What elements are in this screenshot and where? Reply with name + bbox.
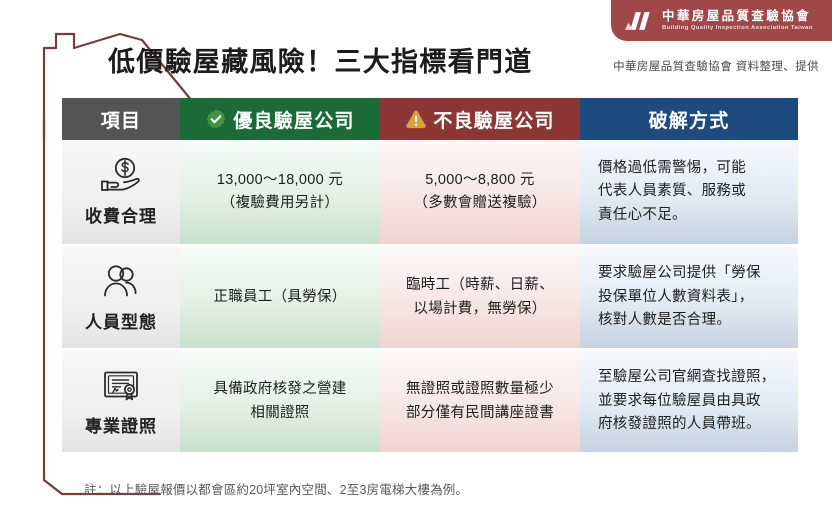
row-good-cell: 具備政府核發之營建 相關證照 <box>180 351 380 452</box>
row-item-cell: 專業證照 <box>62 351 180 452</box>
two-people-icon <box>98 263 144 301</box>
infographic-page: 中華房屋品質查驗協會 Building Quality Inspection A… <box>0 0 832 524</box>
row-bad-text: 無證照或證照數量極少 部分僅有民間講座證書 <box>406 378 554 425</box>
brand-plate: 中華房屋品質查驗協會 Building Quality Inspection A… <box>611 0 832 41</box>
row-good-cell: 13,000～18,000 元 （複驗費用另計） <box>180 140 380 244</box>
table-row: 人員型態 正職員工（具勞保） 臨時工（時薪、日薪、 以場計費，無勞保） 要求驗屋… <box>62 244 798 348</box>
row-fix-cell: 價格過低需警惕，可能 代表人員素質、服務或 責任心不足。 <box>580 140 798 244</box>
row-fix-cell: 要求驗屋公司提供「勞保 投保單位人數資料表」， 核對人數是否合理。 <box>580 247 798 348</box>
column-header-bad-label: 不良驗屋公司 <box>433 106 554 133</box>
column-header-bad: 不良驗屋公司 <box>380 98 580 140</box>
row-good-text: 正職員工（具勞保） <box>213 286 346 309</box>
row-fix-text: 至驗屋公司官網查找證照， 並要求每位驗屋員由具政 府核發證照的人員帶班。 <box>598 366 776 436</box>
warning-triangle-icon <box>405 109 427 130</box>
table-body: 收費合理 13,000～18,000 元 （複驗費用另計） 5,000～8,80… <box>62 140 798 452</box>
column-header-item: 項目 <box>62 98 180 140</box>
row-good-cell: 正職員工（具勞保） <box>180 247 380 348</box>
row-fix-text: 價格過低需警惕，可能 代表人員素質、服務或 責任心不足。 <box>598 157 746 227</box>
row-bad-text: 5,000～8,800 元 （多數會贈送複驗） <box>413 169 546 216</box>
page-title: 低價驗屋藏風險！三大指標看門道 <box>108 40 533 79</box>
row-item-cell: 收費合理 <box>62 140 180 244</box>
row-item-cell: 人員型態 <box>62 247 180 348</box>
table-row: 專業證照 具備政府核發之營建 相關證照 無證照或證照數量極少 部分僅有民間講座證… <box>62 348 798 452</box>
brand-name-en: Building Quality Inspection Association … <box>662 25 813 31</box>
brand-credit: 中華房屋品質查驗協會 資料整理、提供 <box>613 58 819 74</box>
row-bad-text: 臨時工（時薪、日薪、 以場計費，無勞保） <box>406 274 554 321</box>
row-fix-text: 要求驗屋公司提供「勞保 投保單位人數資料表」， 核對人數是否合理。 <box>598 262 761 332</box>
row-good-text: 具備政府核發之營建 相關證照 <box>213 378 346 425</box>
column-header-good-label: 優良驗屋公司 <box>233 106 354 133</box>
column-header-item-label: 項目 <box>101 106 141 133</box>
row-good-text: 13,000～18,000 元 （複驗費用另計） <box>217 169 343 216</box>
brand-name-cn: 中華房屋品質查驗協會 <box>662 10 813 23</box>
certificate-icon <box>98 367 144 405</box>
row-bad-cell: 臨時工（時薪、日薪、 以場計費，無勞保） <box>380 247 580 348</box>
comparison-table: 項目 優良驗屋公司 不良驗屋公司 破解方式 <box>62 98 798 452</box>
footnote: 註：以上驗屋報價以都會區約20坪室內空間、2至3房電梯大樓為例。 <box>84 479 468 498</box>
row-label: 收費合理 <box>85 202 157 227</box>
column-header-fix: 破解方式 <box>580 98 798 140</box>
column-header-good: 優良驗屋公司 <box>180 98 380 140</box>
row-bad-cell: 無證照或證照數量極少 部分僅有民間講座證書 <box>380 351 580 452</box>
row-label: 專業證照 <box>85 412 157 437</box>
association-logo-mark-icon <box>625 10 655 32</box>
table-header-row: 項目 優良驗屋公司 不良驗屋公司 破解方式 <box>62 98 798 140</box>
column-header-fix-label: 破解方式 <box>649 106 730 133</box>
table-row: 收費合理 13,000～18,000 元 （複驗費用另計） 5,000～8,80… <box>62 140 798 244</box>
check-badge-icon <box>205 108 227 130</box>
row-label: 人員型態 <box>85 308 157 333</box>
row-bad-cell: 5,000～8,800 元 （多數會贈送複驗） <box>380 140 580 244</box>
hand-holding-coin-icon <box>98 157 144 195</box>
row-fix-cell: 至驗屋公司官網查找證照， 並要求每位驗屋員由具政 府核發證照的人員帶班。 <box>580 351 798 452</box>
